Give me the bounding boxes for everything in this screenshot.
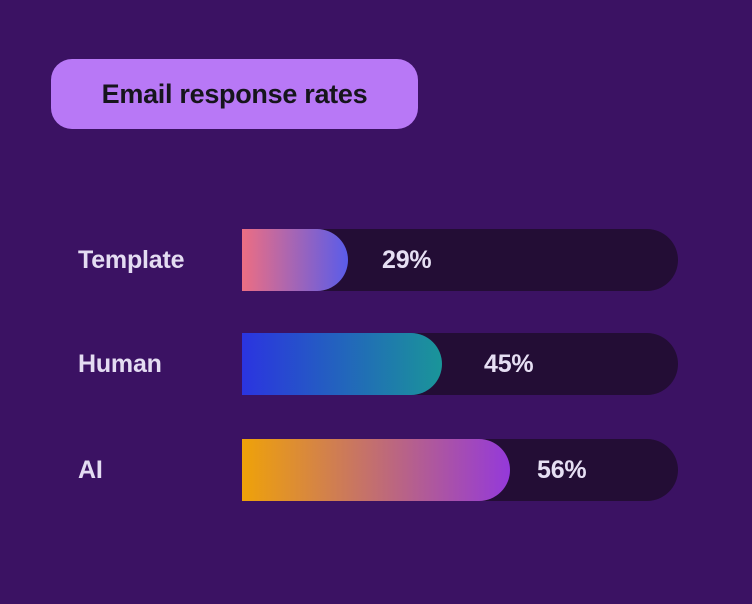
bar-row: Human 45% (0, 333, 752, 395)
bar-track (242, 439, 678, 501)
horizontal-bar-chart: Template 29% Human 45% AI 56% (0, 0, 752, 604)
bar-row: Template 29% (0, 229, 752, 291)
bar-category-label: Template (78, 229, 184, 291)
bar-fill (242, 229, 348, 291)
bar-fill (242, 333, 442, 395)
bar-fill (242, 439, 510, 501)
bar-track (242, 333, 678, 395)
bar-category-label: Human (78, 333, 162, 395)
bar-track (242, 229, 678, 291)
bar-category-label: AI (78, 439, 103, 501)
bar-row: AI 56% (0, 439, 752, 501)
chart-canvas: Email response rates Template 29% Human … (0, 0, 752, 604)
